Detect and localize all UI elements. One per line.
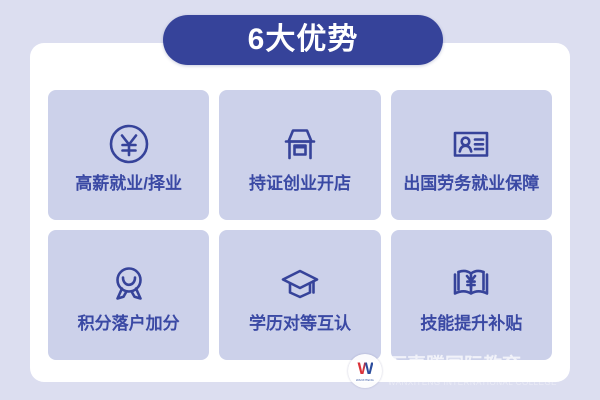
yen-circle-icon bbox=[102, 115, 156, 173]
feature-card-label: 高薪就业/择业 bbox=[75, 175, 182, 194]
content-panel: 高薪就业/择业 持证创业开店 bbox=[30, 43, 570, 382]
feature-card-label: 积分落户加分 bbox=[78, 315, 180, 334]
feature-card-label: 技能提升补贴 bbox=[420, 315, 522, 334]
feature-card-label: 学历对等互认 bbox=[249, 315, 351, 334]
graduation-cap-icon bbox=[273, 255, 327, 313]
feature-card-label: 出国劳务就业保障 bbox=[403, 175, 539, 194]
page-title: 6大优势 bbox=[248, 25, 359, 55]
feature-card-label: 持证创业开店 bbox=[249, 175, 351, 194]
feature-card-overseas-employment[interactable]: 出国劳务就业保障 bbox=[391, 90, 552, 220]
page-title-badge: 6大优势 bbox=[163, 15, 443, 65]
feature-card-points-residency[interactable]: 积分落户加分 bbox=[48, 230, 209, 360]
feature-card-storefront[interactable]: 持证创业开店 bbox=[219, 90, 380, 220]
feature-card-degree-recognition[interactable]: 学历对等互认 bbox=[219, 230, 380, 360]
award-medal-icon bbox=[102, 255, 156, 313]
feature-card-high-salary[interactable]: 高薪就业/择业 bbox=[48, 90, 209, 220]
id-card-icon bbox=[444, 115, 498, 173]
feature-card-skill-subsidy[interactable]: 技能提升补贴 bbox=[391, 230, 552, 360]
book-yen-icon bbox=[444, 255, 498, 313]
storefront-icon bbox=[273, 115, 327, 173]
feature-card-grid: 高薪就业/择业 持证创业开店 bbox=[48, 90, 552, 360]
